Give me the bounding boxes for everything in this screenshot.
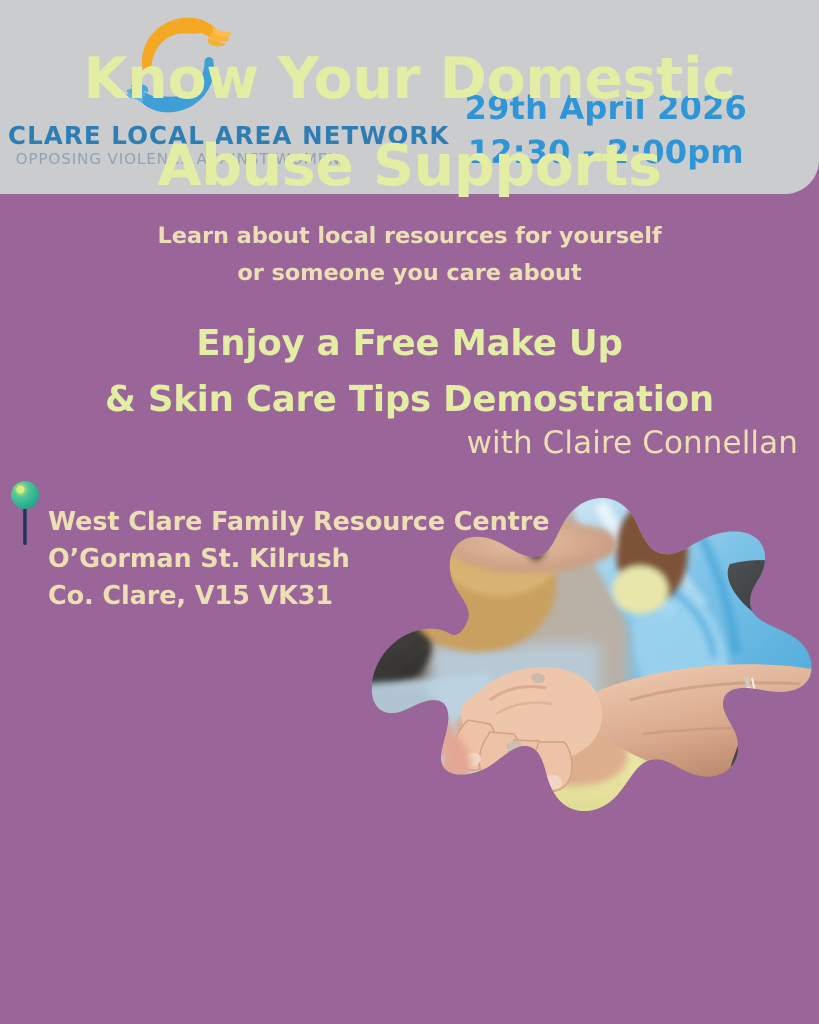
tagline-line-1: Learn about local resources for yourself bbox=[0, 218, 819, 255]
poster: Know Your Domestic Abuse Supports Learn … bbox=[0, 0, 819, 1024]
venue-address: West Clare Family Resource Centre O’Gorm… bbox=[48, 504, 549, 616]
presenter-name: with Claire Connellan bbox=[467, 425, 798, 461]
offer-line-1: Enjoy a Free Make Up bbox=[0, 316, 819, 372]
venue-line-1: West Clare Family Resource Centre bbox=[48, 504, 549, 541]
venue-line-3: Co. Clare, V15 VK31 bbox=[48, 578, 549, 615]
page-title: Know Your Domestic Abuse Supports bbox=[0, 36, 819, 209]
map-pin-icon bbox=[8, 478, 44, 546]
offer-heading: Enjoy a Free Make Up & Skin Care Tips De… bbox=[0, 316, 819, 428]
tagline: Learn about local resources for yourself… bbox=[0, 218, 819, 292]
tagline-line-2: or someone you care about bbox=[0, 255, 819, 292]
headline-line-1: Know Your Domestic bbox=[0, 36, 819, 123]
venue-line-2: O’Gorman St. Kilrush bbox=[48, 541, 549, 578]
headline-line-2: Abuse Supports bbox=[0, 123, 819, 210]
offer-line-2: & Skin Care Tips Demostration bbox=[0, 372, 819, 428]
